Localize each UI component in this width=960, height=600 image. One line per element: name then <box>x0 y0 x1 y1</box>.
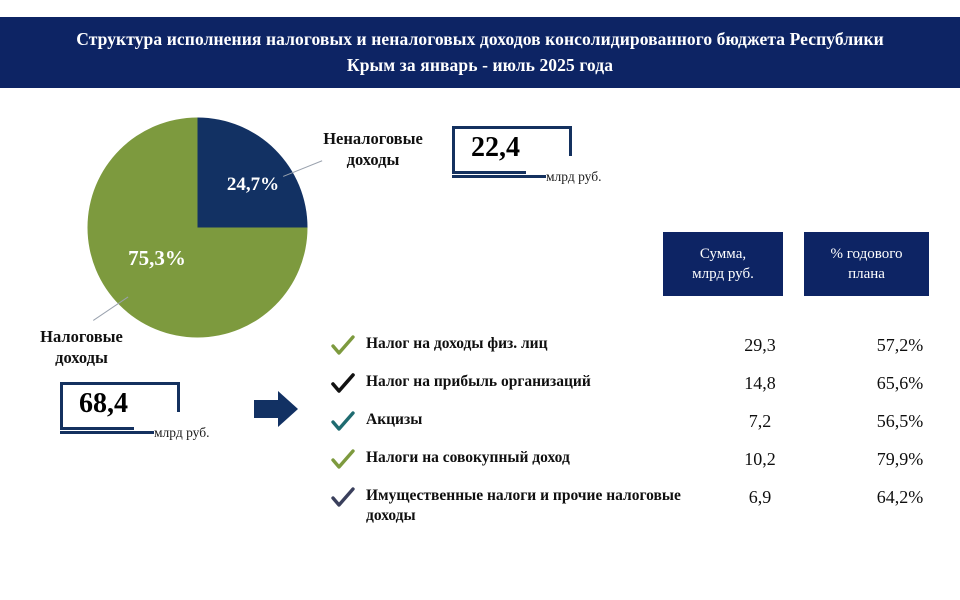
page-title: Структура исполнения налоговых и неналог… <box>65 27 895 78</box>
callout-nontax-unit: млрд руб. <box>546 169 601 185</box>
check-icon <box>330 334 356 358</box>
arrow-right-icon-svg <box>252 388 300 430</box>
title-banner: Структура исполнения налоговых и неналог… <box>0 17 960 88</box>
revenue-table: Налог на доходы физ. лиц 29,3 57,2% Нало… <box>330 330 930 536</box>
table-row: Имущественные налоги и прочие налоговые … <box>330 482 930 536</box>
check-icon <box>330 372 356 396</box>
table-row-sum: 7,2 <box>700 406 820 432</box>
table-row-sum: 6,9 <box>700 482 820 508</box>
check-icon <box>330 448 356 472</box>
column-header-sum-line2: млрд руб. <box>692 264 754 284</box>
table-row-pct: 56,5% <box>835 406 960 432</box>
check-icon <box>330 486 356 510</box>
pie-label-nontax-line1: Неналоговые <box>298 128 448 149</box>
callout-tax-unit: млрд руб. <box>154 425 209 441</box>
check-icon <box>330 410 356 434</box>
table-row-pct: 64,2% <box>835 482 960 508</box>
pie-label-tax: Налоговые доходы <box>14 326 149 369</box>
pie-label-nontax: Неналоговые доходы <box>298 128 448 171</box>
callout-tax-amount: 68,4 млрд руб. <box>60 382 275 448</box>
table-row: Налог на доходы физ. лиц 29,3 57,2% <box>330 330 930 368</box>
table-row-label: Налог на доходы физ. лиц <box>366 330 706 354</box>
table-row-pct: 79,9% <box>835 444 960 470</box>
table-row-sum: 14,8 <box>700 368 820 394</box>
table-row-sum: 29,3 <box>700 330 820 356</box>
column-header-sum: Сумма, млрд руб. <box>663 232 783 296</box>
pie-chart: 24,7% 75,3% <box>85 115 310 340</box>
arrow-right-icon <box>252 388 300 430</box>
table-row: Акцизы 7,2 56,5% <box>330 406 930 444</box>
table-row-sum: 10,2 <box>700 444 820 470</box>
table-row: Налоги на совокупный доход 10,2 79,9% <box>330 444 930 482</box>
callout-nontax-baserule <box>452 175 546 178</box>
callout-tax-baserule <box>60 431 154 434</box>
table-row: Налог на прибыль организаций 14,8 65,6% <box>330 368 930 406</box>
column-header-pct-line1: % годового <box>831 244 903 264</box>
table-row-label: Акцизы <box>366 406 706 430</box>
pie-value-tax: 75,3% <box>128 246 186 270</box>
callout-nontax-value: 22,4 <box>471 132 520 164</box>
table-row-pct: 65,6% <box>835 368 960 394</box>
column-header-sum-line1: Сумма, <box>692 244 754 264</box>
pie-chart-svg: 24,7% 75,3% <box>85 115 310 340</box>
table-row-label: Налог на прибыль организаций <box>366 368 706 392</box>
callout-nontax-amount: 22,4 млрд руб. <box>452 126 652 192</box>
pie-label-tax-line2: доходы <box>14 347 149 368</box>
callout-tax-value: 68,4 <box>79 388 128 420</box>
table-row-label: Налоги на совокупный доход <box>366 444 706 468</box>
column-header-pct: % годового плана <box>804 232 929 296</box>
table-row-pct: 57,2% <box>835 330 960 356</box>
pie-label-nontax-line2: доходы <box>298 149 448 170</box>
pie-label-tax-line1: Налоговые <box>14 326 149 347</box>
pie-value-nontax: 24,7% <box>227 174 279 195</box>
column-header-pct-line2: плана <box>831 264 903 284</box>
table-row-label: Имущественные налоги и прочие налоговые … <box>366 482 706 525</box>
